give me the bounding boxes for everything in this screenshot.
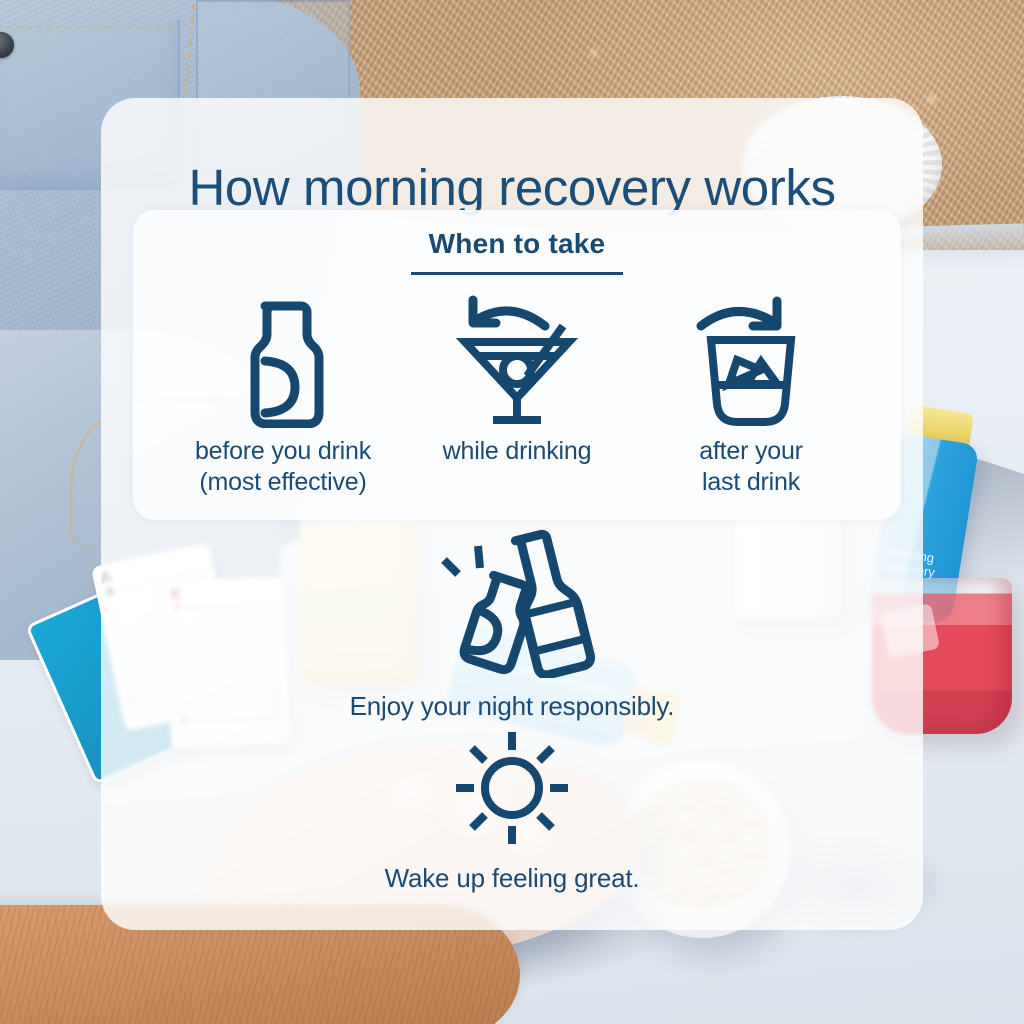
- when-to-take-underline: [411, 272, 623, 275]
- info-overlay-panel: How morning recovery works When to take …: [101, 98, 923, 930]
- when-to-take-card: When to take before you drink (most effe…: [133, 210, 901, 520]
- step-caption-line1: before you drink: [195, 437, 371, 465]
- section-enjoy-night: Enjoy your night responsibly.: [101, 518, 923, 722]
- bottle-icon: [235, 292, 331, 432]
- step-caption: after your last drink: [699, 436, 803, 498]
- screenshot-root: A♠ K♦ morning recovery morning recovery: [0, 0, 1024, 1024]
- section-wake-up: Wake up feeling great.: [101, 726, 923, 894]
- when-to-take-steps: before you drink (most effective): [133, 292, 901, 498]
- step-caption: before you drink (most effective): [195, 436, 371, 498]
- step-caption-line2: last drink: [702, 468, 800, 496]
- step-caption-line1: after your: [699, 437, 803, 465]
- step-caption: while drinking: [443, 436, 592, 467]
- sun-icon: [446, 726, 578, 855]
- section-caption: Wake up feeling great.: [385, 863, 640, 894]
- rocks-glass-arrow-right-icon: [685, 292, 817, 432]
- step-while-drinking: while drinking: [403, 292, 631, 498]
- page-title: How morning recovery works: [101, 158, 923, 217]
- step-caption-line1: while drinking: [443, 437, 592, 465]
- step-before-you-drink: before you drink (most effective): [169, 292, 397, 498]
- step-caption-line2: (most effective): [199, 468, 366, 496]
- step-after-last-drink: after your last drink: [637, 292, 865, 498]
- section-caption: Enjoy your night responsibly.: [350, 691, 675, 722]
- clinking-bottles-icon: [422, 518, 602, 683]
- when-to-take-heading: When to take: [133, 228, 901, 260]
- cocktail-glass-arrow-left-icon: [451, 292, 583, 432]
